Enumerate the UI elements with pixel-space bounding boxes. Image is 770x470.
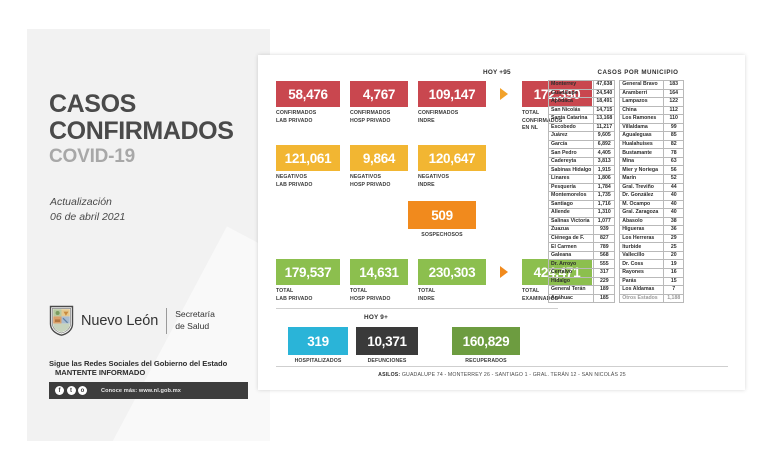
cap-line-1: RECUPERADOS xyxy=(452,358,520,366)
table-row: Aramberri164 xyxy=(620,89,684,98)
municipality-name: Dr. González xyxy=(620,192,664,201)
org-name: Nuevo León xyxy=(81,313,166,329)
instagram-icon[interactable]: o xyxy=(78,386,87,395)
confirmados-row: 58,476 CONFIRMADOS LAB PRIVADO 4,767 CON… xyxy=(276,81,592,133)
table-row: Higueras36 xyxy=(620,226,684,235)
stat-value: 121,061 xyxy=(285,151,332,166)
social-prompt-line-2: MANTENTE INFORMADO xyxy=(49,368,227,377)
stat-confirmados-indre: 109,147 CONFIRMADOS INDRE xyxy=(418,81,486,125)
table-row: Linares1,806 xyxy=(549,175,615,184)
municipality-cases: 15 xyxy=(664,277,684,286)
table-row: Zuazua939 xyxy=(549,226,615,235)
table-row: Juárez9,605 xyxy=(549,132,615,141)
table-row: Otros Estados1,188 xyxy=(620,294,684,303)
cap-line-1: CONFIRMADOS xyxy=(350,110,408,118)
table-row: Ciénega de F.827 xyxy=(549,234,615,243)
municipality-cases: 110 xyxy=(664,115,684,124)
table-row: Mier y Noriega56 xyxy=(620,166,684,175)
table-row: García6,892 xyxy=(549,140,615,149)
cap-line-2: LAB PRIVADO xyxy=(276,182,340,190)
twitter-icon[interactable]: t xyxy=(67,386,76,395)
table-row: San Pedro4,405 xyxy=(549,149,615,158)
municipality-cases: 40 xyxy=(664,209,684,218)
table-row: El Carmen789 xyxy=(549,243,615,252)
stat-caption: HOSPITALIZADOS xyxy=(288,358,348,366)
municipality-name: García xyxy=(549,140,594,149)
arrow-right-icon xyxy=(500,88,508,100)
municipality-cases: 164 xyxy=(664,89,684,98)
municipality-cases: 939 xyxy=(594,226,615,235)
municipality-name: Allende xyxy=(549,209,594,218)
table-row: Los Ramones110 xyxy=(620,115,684,124)
cap-line-1: TOTAL xyxy=(350,288,408,296)
org-dept-line-1: Secretaría xyxy=(175,309,215,321)
cap-line-1: NEGATIVOS xyxy=(276,174,340,182)
municipality-name: Villaldama xyxy=(620,123,664,132)
stat-value: 10,371 xyxy=(367,334,407,349)
stat-caption: TOTAL HOSP PRIVADO xyxy=(350,288,408,303)
municipality-cases: 4,405 xyxy=(594,149,615,158)
facebook-icon[interactable]: f xyxy=(55,386,64,395)
municipality-name: Montemorelos xyxy=(549,192,594,201)
municipality-name: Otros Estados xyxy=(620,294,664,303)
arrow-right-icon xyxy=(500,266,508,278)
section-divider xyxy=(276,308,558,309)
municipality-name: Zuazua xyxy=(549,226,594,235)
municipality-name: San Pedro xyxy=(549,149,594,158)
table-row: Gral. Zaragoza40 xyxy=(620,209,684,218)
stat-negativos-hosp-privado: 9,864 NEGATIVOS HOSP PRIVADO xyxy=(350,145,408,189)
sospechosos-row: 509 SOSPECHOSOS xyxy=(408,201,476,240)
stat-caption: TOTAL LAB PRIVADO xyxy=(276,288,340,303)
table-row: Iturbide25 xyxy=(620,243,684,252)
asilos-text: GUADALUPE 74 - MONTERREY 26 - SANTIAGO 1… xyxy=(402,372,626,378)
negativos-row: 121,061 NEGATIVOS LAB PRIVADO 9,864 NEGA… xyxy=(276,145,486,189)
cap-line-2: HOSP PRIVADO xyxy=(350,296,408,304)
cap-line-1: NEGATIVOS xyxy=(418,174,486,182)
municipality-name: Gral. Zaragoza xyxy=(620,209,664,218)
municipality-cases: 229 xyxy=(594,277,615,286)
municipality-name: Mina xyxy=(620,157,664,166)
stat-caption: RECUPERADOS xyxy=(452,358,520,366)
stat-value: 9,864 xyxy=(363,151,395,166)
table-row: Salinas Victoria1,077 xyxy=(549,217,615,226)
municipality-cases: 25 xyxy=(664,243,684,252)
municipality-cases: 185 xyxy=(594,294,615,303)
stat-value: 58,476 xyxy=(288,87,328,102)
municipality-cases: 52 xyxy=(664,175,684,184)
totales-row: 179,537 TOTAL LAB PRIVADO 14,631 TOTAL H… xyxy=(276,259,592,303)
municipality-name: Escobedo xyxy=(549,123,594,132)
table-row: Parás15 xyxy=(620,277,684,286)
municipality-name: Gral. Treviño xyxy=(620,183,664,192)
municipality-name: Linares xyxy=(549,175,594,184)
statistics-section: HOY +95 58,476 CONFIRMADOS LAB PRIVADO 4… xyxy=(276,69,558,379)
stat-value: 109,147 xyxy=(429,87,476,102)
municipality-cases: 14,715 xyxy=(594,106,615,115)
municipality-name: China xyxy=(620,106,664,115)
table-row: M. Ocampo40 xyxy=(620,200,684,209)
municipality-name: Los Aldamas xyxy=(620,286,664,295)
stat-caption: NEGATIVOS HOSP PRIVADO xyxy=(350,174,408,189)
municipality-cases: 38 xyxy=(664,217,684,226)
municipality-name: M. Ocampo xyxy=(620,200,664,209)
stat-defunciones: 10,371 DEFUNCIONES xyxy=(356,327,418,366)
table-row: Dr. González40 xyxy=(620,192,684,201)
stat-caption: TOTAL INDRE xyxy=(418,288,486,303)
table-row: Dr. Coss19 xyxy=(620,260,684,269)
table-row: Montemorelos1,735 xyxy=(549,192,615,201)
table-row: Lampazos122 xyxy=(620,98,684,107)
table-row: Hualahuises82 xyxy=(620,140,684,149)
table-row: Anáhuac185 xyxy=(549,294,615,303)
table-row: Los Aldamas7 xyxy=(620,286,684,295)
stat-total-hosp-privado: 14,631 TOTAL HOSP PRIVADO xyxy=(350,259,408,303)
cap-line-1: DEFUNCIONES xyxy=(356,358,418,366)
municipality-name: San Nicolás xyxy=(549,106,594,115)
nuevo-leon-shield-icon xyxy=(49,305,74,336)
cap-line-2: INDRE xyxy=(418,182,486,190)
title-subtitle: COVID-19 xyxy=(49,145,233,169)
stat-total-indre: 230,303 TOTAL INDRE xyxy=(418,259,486,303)
municipality-name: Ciénega de F. xyxy=(549,234,594,243)
table-row: General Terán189 xyxy=(549,286,615,295)
stat-recuperados: 160,829 RECUPERADOS xyxy=(452,327,520,366)
stat-value: 179,537 xyxy=(285,265,332,280)
table-row: Hidalgo229 xyxy=(549,277,615,286)
municipality-name: Monterrey xyxy=(549,81,594,90)
table-row: Villaldama99 xyxy=(620,123,684,132)
government-logo: Nuevo León Secretaría de Salud xyxy=(49,305,215,336)
stat-sospechosos: 509 SOSPECHOSOS xyxy=(408,201,476,240)
asilos-label: ASILOS: xyxy=(378,372,400,378)
outcomes-row: 319 HOSPITALIZADOS 10,371 DEFUNCIONES xyxy=(288,327,520,366)
municipality-cases: 1,806 xyxy=(594,175,615,184)
stat-hospitalizados: 319 HOSPITALIZADOS xyxy=(288,327,348,366)
table-row: Rayones16 xyxy=(620,269,684,278)
table-row: Gral. Treviño44 xyxy=(620,183,684,192)
update-date: 06 de abril 2021 xyxy=(50,210,125,225)
municipality-cases: 1,310 xyxy=(594,209,615,218)
municipality-cases: 189 xyxy=(594,286,615,295)
stat-caption: NEGATIVOS LAB PRIVADO xyxy=(276,174,340,189)
stat-value: 14,631 xyxy=(359,265,399,280)
municipality-cases: 3,813 xyxy=(594,157,615,166)
municipality-cases: 112 xyxy=(664,106,684,115)
municipality-name: Bustamante xyxy=(620,149,664,158)
municipality-name: Mier y Noriega xyxy=(620,166,664,175)
social-prompt-line-1: Sigue las Redes Sociales del Gobierno de… xyxy=(49,359,227,368)
municipality-cases: 16 xyxy=(664,269,684,278)
municipality-name: General Bravo xyxy=(620,81,664,90)
stat-caption: CONFIRMADOS HOSP PRIVADO xyxy=(350,110,408,125)
stat-negativos-lab-privado: 121,061 NEGATIVOS LAB PRIVADO xyxy=(276,145,340,189)
asilos-divider xyxy=(276,366,728,367)
municipality-cases: 122 xyxy=(664,98,684,107)
table-row: Abasolo38 xyxy=(620,217,684,226)
table-row: Sabinas Hidalgo1,915 xyxy=(549,166,615,175)
municipality-name: Aramberri xyxy=(620,89,664,98)
stat-caption: SOSPECHOSOS xyxy=(408,232,476,240)
logo-divider xyxy=(166,308,167,334)
municipality-name: Vallecillo xyxy=(620,251,664,260)
cap-line-1: TOTAL xyxy=(418,288,486,296)
municipality-cases: 789 xyxy=(594,243,615,252)
social-icons: f t o xyxy=(55,386,87,395)
municipality-cases: 827 xyxy=(594,234,615,243)
left-branding-panel: CASOS CONFIRMADOS COVID-19 Actualización… xyxy=(27,29,270,441)
org-dept-line-2: de Salud xyxy=(175,321,215,333)
social-prompt: Sigue las Redes Sociales del Gobierno de… xyxy=(49,359,227,377)
municipality-name: Hualahuises xyxy=(620,140,664,149)
municipality-cases: 56 xyxy=(664,166,684,175)
municipality-name: Dr. Arroyo xyxy=(549,260,594,269)
table-row: Escobedo11,217 xyxy=(549,123,615,132)
municipality-cases: 555 xyxy=(594,260,615,269)
stat-caption: CONFIRMADOS INDRE xyxy=(418,110,486,125)
table-row: Guadalupe24,540 xyxy=(549,89,615,98)
cap-line-1: CONFIRMADOS xyxy=(276,110,340,118)
table-row: Apodaca18,491 xyxy=(549,98,615,107)
municipality-name: Apodaca xyxy=(549,98,594,107)
municipality-name: Hidalgo xyxy=(549,277,594,286)
asilos-footer: ASILOS: GUADALUPE 74 - MONTERREY 26 - SA… xyxy=(276,366,728,378)
municipality-cases: 1,077 xyxy=(594,217,615,226)
municipality-name: Lampazos xyxy=(620,98,664,107)
municipality-name: Salinas Victoria xyxy=(549,217,594,226)
municipality-name: Marín xyxy=(620,175,664,184)
table-row: Marín52 xyxy=(620,175,684,184)
table-row: Pesquería1,784 xyxy=(549,183,615,192)
municipality-name: Cerralvo xyxy=(549,269,594,278)
table-row: General Bravo183 xyxy=(620,81,684,90)
municipality-cases: 568 xyxy=(594,251,615,260)
municipality-table-left: Monterrey47,638Guadalupe24,540Apodaca18,… xyxy=(548,80,615,303)
municipality-cases: 1,716 xyxy=(594,200,615,209)
stat-negativos-indre: 120,647 NEGATIVOS INDRE xyxy=(418,145,486,189)
table-row: Los Herreras29 xyxy=(620,234,684,243)
hoy-defunciones-label: HOY 9+ xyxy=(364,314,388,321)
stat-value: 319 xyxy=(307,334,329,349)
table-row: Vallecillo20 xyxy=(620,251,684,260)
website-url[interactable]: Conoce más: www.nl.gob.mx xyxy=(101,388,181,394)
cap-line-2: HOSP PRIVADO xyxy=(350,118,408,126)
org-department: Secretaría de Salud xyxy=(175,309,215,332)
stat-caption: DEFUNCIONES xyxy=(356,358,418,366)
municipality-cases: 40 xyxy=(664,192,684,201)
municipality-name: Cadereyta xyxy=(549,157,594,166)
table-row: Mina63 xyxy=(620,157,684,166)
cap-line-2: INDRE xyxy=(418,118,486,126)
municipality-cases: 24,540 xyxy=(594,89,615,98)
municipality-name: Parás xyxy=(620,277,664,286)
title-line-2: CONFIRMADOS xyxy=(49,118,233,145)
cap-line-1: NEGATIVOS xyxy=(350,174,408,182)
stat-value: 230,303 xyxy=(429,265,476,280)
stat-confirmados-lab-privado: 58,476 CONFIRMADOS LAB PRIVADO xyxy=(276,81,340,125)
stat-caption: CONFIRMADOS LAB PRIVADO xyxy=(276,110,340,125)
municipality-name: Juárez xyxy=(549,132,594,141)
municipality-cases: 6,892 xyxy=(594,140,615,149)
hoy-confirmados-label: HOY +95 xyxy=(483,69,511,76)
stat-caption: NEGATIVOS INDRE xyxy=(418,174,486,189)
municipality-cases: 11,217 xyxy=(594,123,615,132)
municipality-name: Guadalupe xyxy=(549,89,594,98)
infographic-poster: CASOS CONFIRMADOS COVID-19 Actualización… xyxy=(0,0,770,470)
table-row: Cadereyta3,813 xyxy=(549,157,615,166)
cap-line-1: TOTAL xyxy=(276,288,340,296)
table-row: Santiago1,716 xyxy=(549,200,615,209)
title-line-1: CASOS xyxy=(49,91,233,118)
table-row: China112 xyxy=(620,106,684,115)
municipality-name: Anáhuac xyxy=(549,294,594,303)
municipality-name: Agualeguas xyxy=(620,132,664,141)
cap-line-1: CONFIRMADOS xyxy=(418,110,486,118)
municipality-cases: 7 xyxy=(664,286,684,295)
cap-line-2: HOSP PRIVADO xyxy=(350,182,408,190)
cap-line-1: HOSPITALIZADOS xyxy=(288,358,348,366)
municipality-cases: 20 xyxy=(664,251,684,260)
municipality-name: Los Herreras xyxy=(620,234,664,243)
cap-line-2: LAB PRIVADO xyxy=(276,118,340,126)
table-row: Cerralvo317 xyxy=(549,269,615,278)
municipality-table-right: General Bravo183Aramberri164Lampazos122C… xyxy=(619,80,684,303)
municipality-cases: 85 xyxy=(664,132,684,141)
cap-line-1: SOSPECHOSOS xyxy=(408,232,476,240)
municipality-cases: 29 xyxy=(664,234,684,243)
municipality-name: Galeana xyxy=(549,251,594,260)
municipality-name: Higueras xyxy=(620,226,664,235)
stat-total-lab-privado: 179,537 TOTAL LAB PRIVADO xyxy=(276,259,340,303)
municipality-name: Santiago xyxy=(549,200,594,209)
municipality-cases: 1,188 xyxy=(664,294,684,303)
data-panel: HOY +95 58,476 CONFIRMADOS LAB PRIVADO 4… xyxy=(258,55,745,390)
cap-line-2: LAB PRIVADO xyxy=(276,296,340,304)
municipality-cases: 1,915 xyxy=(594,166,615,175)
municipality-name: El Carmen xyxy=(549,243,594,252)
municipality-name: Sabinas Hidalgo xyxy=(549,166,594,175)
stat-value: 120,647 xyxy=(429,151,476,166)
social-bar: f t o Conoce más: www.nl.gob.mx xyxy=(49,382,248,399)
municipality-cases: 40 xyxy=(664,200,684,209)
table-row: Agualeguas85 xyxy=(620,132,684,141)
municipality-cases: 78 xyxy=(664,149,684,158)
municipality-cases: 9,605 xyxy=(594,132,615,141)
municipality-cases: 36 xyxy=(664,226,684,235)
stat-confirmados-hosp-privado: 4,767 CONFIRMADOS HOSP PRIVADO xyxy=(350,81,408,125)
municipality-table-section: CASOS POR MUNICIPIO Monterrey47,638Guada… xyxy=(548,69,728,303)
stat-value: 160,829 xyxy=(463,334,510,349)
municipality-table-columns: Monterrey47,638Guadalupe24,540Apodaca18,… xyxy=(548,80,728,303)
municipality-cases: 82 xyxy=(664,140,684,149)
municipality-cases: 63 xyxy=(664,157,684,166)
update-info: Actualización 06 de abril 2021 xyxy=(50,195,125,225)
municipality-name: Dr. Coss xyxy=(620,260,664,269)
municipality-cases: 13,168 xyxy=(594,115,615,124)
page-title: CASOS CONFIRMADOS COVID-19 xyxy=(49,91,233,168)
municipality-cases: 1,784 xyxy=(594,183,615,192)
municipality-name: Rayones xyxy=(620,269,664,278)
municipality-cases: 44 xyxy=(664,183,684,192)
table-row: San Nicolás14,715 xyxy=(549,106,615,115)
update-label: Actualización xyxy=(50,195,125,210)
table-row: Bustamante78 xyxy=(620,149,684,158)
municipality-name: Los Ramones xyxy=(620,115,664,124)
municipality-name: Pesquería xyxy=(549,183,594,192)
municipality-cases: 317 xyxy=(594,269,615,278)
table-row: Allende1,310 xyxy=(549,209,615,218)
municipality-cases: 183 xyxy=(664,81,684,90)
municipality-cases: 18,491 xyxy=(594,98,615,107)
municipality-cases: 47,638 xyxy=(594,81,615,90)
table-row: Galeana568 xyxy=(549,251,615,260)
stat-value: 4,767 xyxy=(363,87,395,102)
municipality-table-title: CASOS POR MUNICIPIO xyxy=(548,69,728,76)
table-row: Santa Catarina13,168 xyxy=(549,115,615,124)
municipality-cases: 1,735 xyxy=(594,192,615,201)
municipality-name: General Terán xyxy=(549,286,594,295)
municipality-cases: 99 xyxy=(664,123,684,132)
table-row: Dr. Arroyo555 xyxy=(549,260,615,269)
stat-value: 509 xyxy=(431,208,453,223)
municipality-name: Abasolo xyxy=(620,217,664,226)
municipality-name: Santa Catarina xyxy=(549,115,594,124)
cap-line-2: INDRE xyxy=(418,296,486,304)
municipality-cases: 19 xyxy=(664,260,684,269)
table-row: Monterrey47,638 xyxy=(549,81,615,90)
municipality-name: Iturbide xyxy=(620,243,664,252)
